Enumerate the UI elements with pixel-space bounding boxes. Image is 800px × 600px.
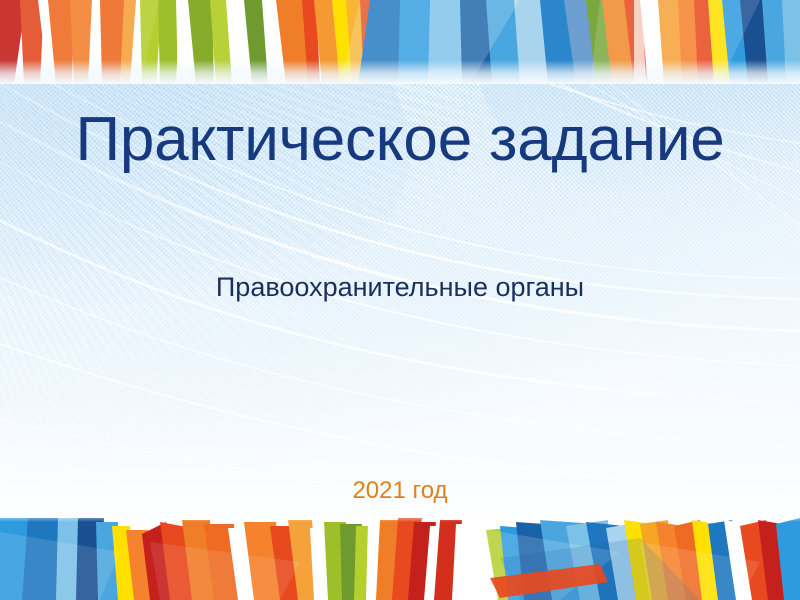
slide-year: 2021 год: [0, 477, 800, 505]
top-decoration-band: [0, 0, 800, 84]
slide-subtitle: Правоохранительные органы: [0, 272, 800, 303]
slide-title: Практическое задание: [0, 107, 800, 172]
bottom-shards-graphic: [0, 512, 800, 600]
bottom-decoration-band: [0, 512, 800, 600]
top-shards-graphic: [0, 0, 800, 84]
presentation-slide: Практическое задание Правоохранительные …: [0, 0, 800, 600]
